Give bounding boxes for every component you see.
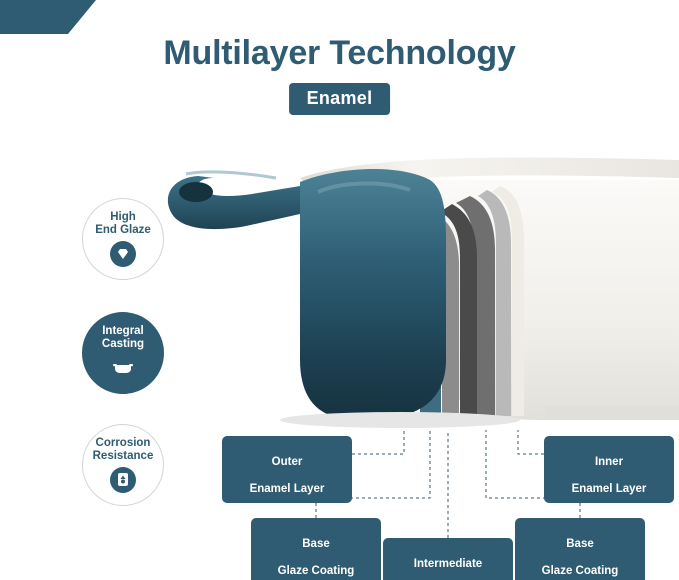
badge-high-end-glaze-line1: High: [106, 211, 140, 223]
page-title: Multilayer Technology: [0, 34, 679, 73]
subtitle-badge: Enamel: [289, 83, 391, 115]
corrosion-flask-icon: [110, 467, 136, 493]
callout-base-glaze-left-line1: Base: [302, 538, 330, 550]
callout-base-glaze-right-line2: Glaze Coating: [542, 565, 619, 577]
callout-cast-iron-line1: Intermediate: [414, 558, 482, 570]
badge-corrosion-resistance[interactable]: Corrosion Resistance: [82, 424, 164, 506]
callout-inner-enamel-line1: Inner: [595, 456, 623, 468]
badge-high-end-glaze-line2: End Glaze: [91, 224, 155, 236]
badge-integral-casting[interactable]: Integral Casting: [82, 312, 164, 394]
callout-base-glaze-left-line2: Glaze Coating: [278, 565, 355, 577]
callout-outer-enamel-line1: Outer: [272, 456, 303, 468]
badge-high-end-glaze[interactable]: High End Glaze: [82, 198, 164, 280]
leader-inner-enamel: [518, 430, 544, 454]
callout-outer-enamel-line2: Enamel Layer: [250, 483, 325, 495]
diamond-icon: [110, 241, 136, 267]
callout-outer-enamel-layer[interactable]: Outer Enamel Layer: [222, 436, 352, 503]
callout-inner-enamel-layer[interactable]: Inner Enamel Layer: [544, 436, 674, 503]
pot-inner-base-shadow: [545, 406, 679, 420]
badge-integral-casting-line1: Integral: [98, 325, 148, 337]
badge-integral-casting-line2: Casting: [98, 338, 148, 350]
cast-pot-icon: [110, 355, 136, 381]
callout-base-glaze-right-line1: Base: [566, 538, 594, 550]
callout-base-glaze-coating-left[interactable]: Base Glaze Coating: [251, 518, 381, 580]
corner-wedge-decoration: [0, 0, 96, 34]
callout-base-glaze-coating-right[interactable]: Base Glaze Coating: [515, 518, 645, 580]
handle-hole: [179, 182, 213, 202]
floor-shadow: [280, 412, 520, 428]
leader-outer-enamel: [352, 430, 404, 454]
badge-corrosion-resistance-line1: Corrosion: [92, 437, 155, 449]
callout-inner-enamel-line2: Enamel Layer: [572, 483, 647, 495]
callout-intermediate-cast-iron-layer[interactable]: Intermediate Cast Iron Layer: [383, 538, 513, 580]
badge-corrosion-resistance-line2: Resistance: [89, 450, 158, 462]
infographic-page: Multilayer Technology Enamel: [0, 0, 679, 580]
